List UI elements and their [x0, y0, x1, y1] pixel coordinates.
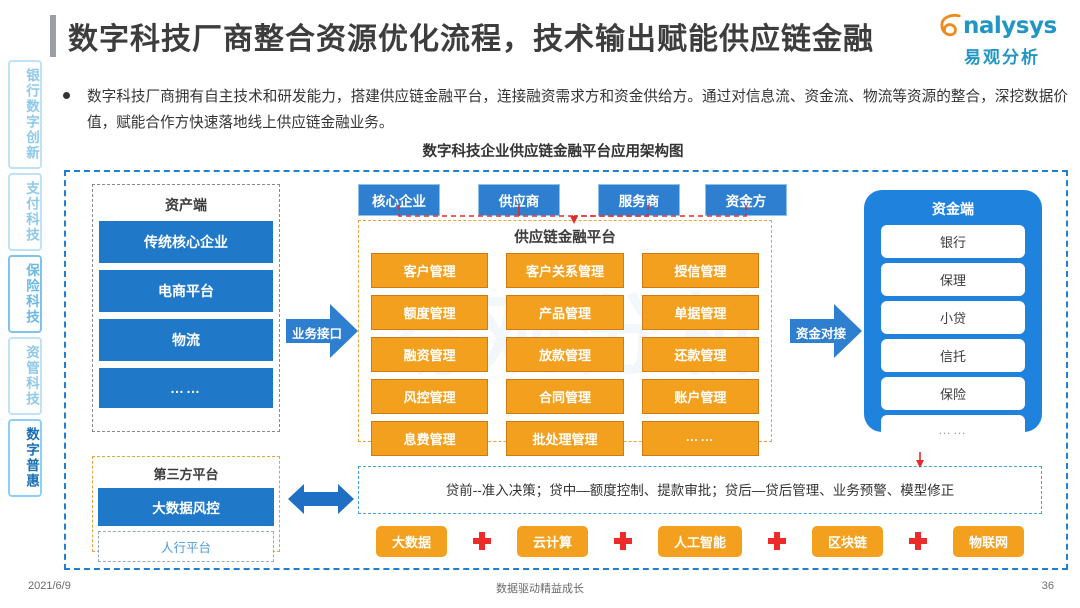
module-quota-mgmt[interactable]: 额度管理 — [371, 295, 488, 330]
asset-side-panel: 资产端 传统核心企业 电商平台 物流 …… — [92, 184, 280, 432]
role-chip-core-enterprise[interactable]: 核心企业 — [358, 184, 440, 216]
plus-icon-3 — [768, 532, 786, 550]
bidirectional-arrow-icon — [288, 480, 354, 518]
tech-ai[interactable]: 人工智能 — [658, 526, 742, 557]
plus-icon-1 — [473, 532, 491, 550]
asset-item-more[interactable]: …… — [99, 368, 273, 408]
module-repayment-mgmt[interactable]: 还款管理 — [642, 337, 759, 372]
title-text: 数字科技厂商整合资源优化流程，技术输出赋能供应链金融 — [68, 14, 874, 58]
capital-item-microloan[interactable]: 小贷 — [881, 301, 1025, 334]
module-account-mgmt[interactable]: 账户管理 — [642, 379, 759, 414]
capital-item-bank[interactable]: 银行 — [881, 225, 1025, 258]
sidebar-item-bank[interactable]: 银行数字创新 — [8, 60, 42, 169]
supply-chain-finance-platform: 供应链金融平台 客户管理 客户关系管理 授信管理 额度管理 产品管理 单据管理 … — [358, 220, 772, 442]
role-chip-funder[interactable]: 资金方 — [705, 184, 787, 216]
role-chip-service-provider[interactable]: 服务商 — [598, 184, 680, 216]
module-customer-mgmt[interactable]: 客户管理 — [371, 253, 488, 288]
plus-icon-4 — [909, 532, 927, 550]
bullet-icon — [63, 92, 70, 99]
analysys-logo: nalysys 易观分析 — [940, 10, 1064, 68]
capital-docking-label: 资金对接 — [796, 323, 846, 342]
capital-side-panel: 资金端 银行 保理 小贷 信托 保险 …… — [864, 190, 1042, 432]
module-batch-processing[interactable]: 批处理管理 — [506, 421, 623, 456]
diagram-subtitle-text: 数字科技企业供应链金融平台应用架构图 — [397, 140, 684, 161]
sidebar-item-payment[interactable]: 支付科技 — [8, 173, 42, 251]
business-interface-label: 业务接口 — [292, 323, 342, 342]
page-title: 数字科技厂商整合资源优化流程，技术输出赋能供应链金融 — [50, 14, 874, 58]
module-document-mgmt[interactable]: 单据管理 — [642, 295, 759, 330]
module-financing-mgmt[interactable]: 融资管理 — [371, 337, 488, 372]
platform-title: 供应链金融平台 — [359, 221, 771, 253]
module-more[interactable]: …… — [642, 421, 759, 456]
capital-item-more[interactable]: …… — [881, 415, 1025, 444]
sidebar: 银行数字创新 支付科技 保险科技 资管科技 数字普惠 — [8, 60, 44, 501]
tech-blockchain[interactable]: 区块链 — [812, 526, 883, 557]
logo-swoosh-icon — [940, 13, 962, 39]
footer-slogan: 数据驱动精益成长 — [0, 580, 1080, 596]
capital-panel-title: 资金端 — [881, 195, 1025, 225]
plus-icon-2 — [614, 532, 632, 550]
body-paragraph: 数字科技厂商拥有自主技术和研发能力，搭建供应链金融平台，连接融资需求方和资金供给… — [63, 84, 1068, 136]
tech-iot[interactable]: 物联网 — [953, 526, 1024, 557]
diagram-subtitle: 数字科技企业供应链金融平台应用架构图 — [0, 140, 1080, 161]
sidebar-item-insurance[interactable]: 保险科技 — [8, 255, 42, 333]
capital-item-factoring[interactable]: 保理 — [881, 263, 1025, 296]
third-party-bigdata-risk[interactable]: 大数据风控 — [98, 488, 274, 526]
loan-lifecycle-bar: 贷前--准入决策；贷中—额度控制、提款审批；贷后—贷后管理、业务预警、模型修正 — [358, 466, 1042, 514]
technology-stack-row: 大数据 云计算 人工智能 区块链 物联网 — [358, 524, 1042, 558]
third-party-panel: 第三方平台 大数据风控 人行平台 — [92, 456, 280, 552]
module-product-mgmt[interactable]: 产品管理 — [506, 295, 623, 330]
paragraph-text: 数字科技厂商拥有自主技术和研发能力，搭建供应链金融平台，连接融资需求方和资金供给… — [87, 84, 1068, 136]
module-disbursement-mgmt[interactable]: 放款管理 — [506, 337, 623, 372]
tech-cloud[interactable]: 云计算 — [517, 526, 588, 557]
module-crm[interactable]: 客户关系管理 — [506, 253, 623, 288]
platform-module-grid: 客户管理 客户关系管理 授信管理 额度管理 产品管理 单据管理 融资管理 放款管… — [359, 253, 771, 456]
title-accent-rule — [50, 15, 56, 57]
third-party-pboc-platform[interactable]: 人行平台 — [98, 531, 274, 562]
third-party-title: 第三方平台 — [98, 462, 274, 488]
sidebar-item-inclusive-finance[interactable]: 数字普惠 — [8, 419, 42, 497]
tech-big-data[interactable]: 大数据 — [376, 526, 447, 557]
module-risk-control-mgmt[interactable]: 风控管理 — [371, 379, 488, 414]
footer-page-number: 36 — [1042, 580, 1054, 592]
asset-item-core-enterprise[interactable]: 传统核心企业 — [99, 221, 273, 263]
module-credit-mgmt[interactable]: 授信管理 — [642, 253, 759, 288]
slide-root: 易观分析 数字科技厂商整合资源优化流程，技术输出赋能供应链金融 nalysys … — [0, 0, 1080, 608]
sidebar-item-asset-mgmt[interactable]: 资管科技 — [8, 337, 42, 415]
footer: 2021/6/9 数据驱动精益成长 36 — [0, 580, 1080, 600]
asset-panel-title: 资产端 — [99, 191, 273, 221]
asset-item-ecommerce[interactable]: 电商平台 — [99, 270, 273, 312]
asset-item-logistics[interactable]: 物流 — [99, 319, 273, 361]
role-chip-supplier[interactable]: 供应商 — [478, 184, 560, 216]
logo-wordmark: nalysys — [963, 13, 1057, 39]
capital-item-trust[interactable]: 信托 — [881, 339, 1025, 372]
capital-item-insurance[interactable]: 保险 — [881, 377, 1025, 410]
loan-lifecycle-text: 贷前--准入决策；贷中—额度控制、提款审批；贷后—贷后管理、业务预警、模型修正 — [446, 480, 955, 501]
module-contract-mgmt[interactable]: 合同管理 — [506, 379, 623, 414]
module-fee-mgmt[interactable]: 息费管理 — [371, 421, 488, 456]
logo-chinese-name: 易观分析 — [940, 43, 1064, 68]
